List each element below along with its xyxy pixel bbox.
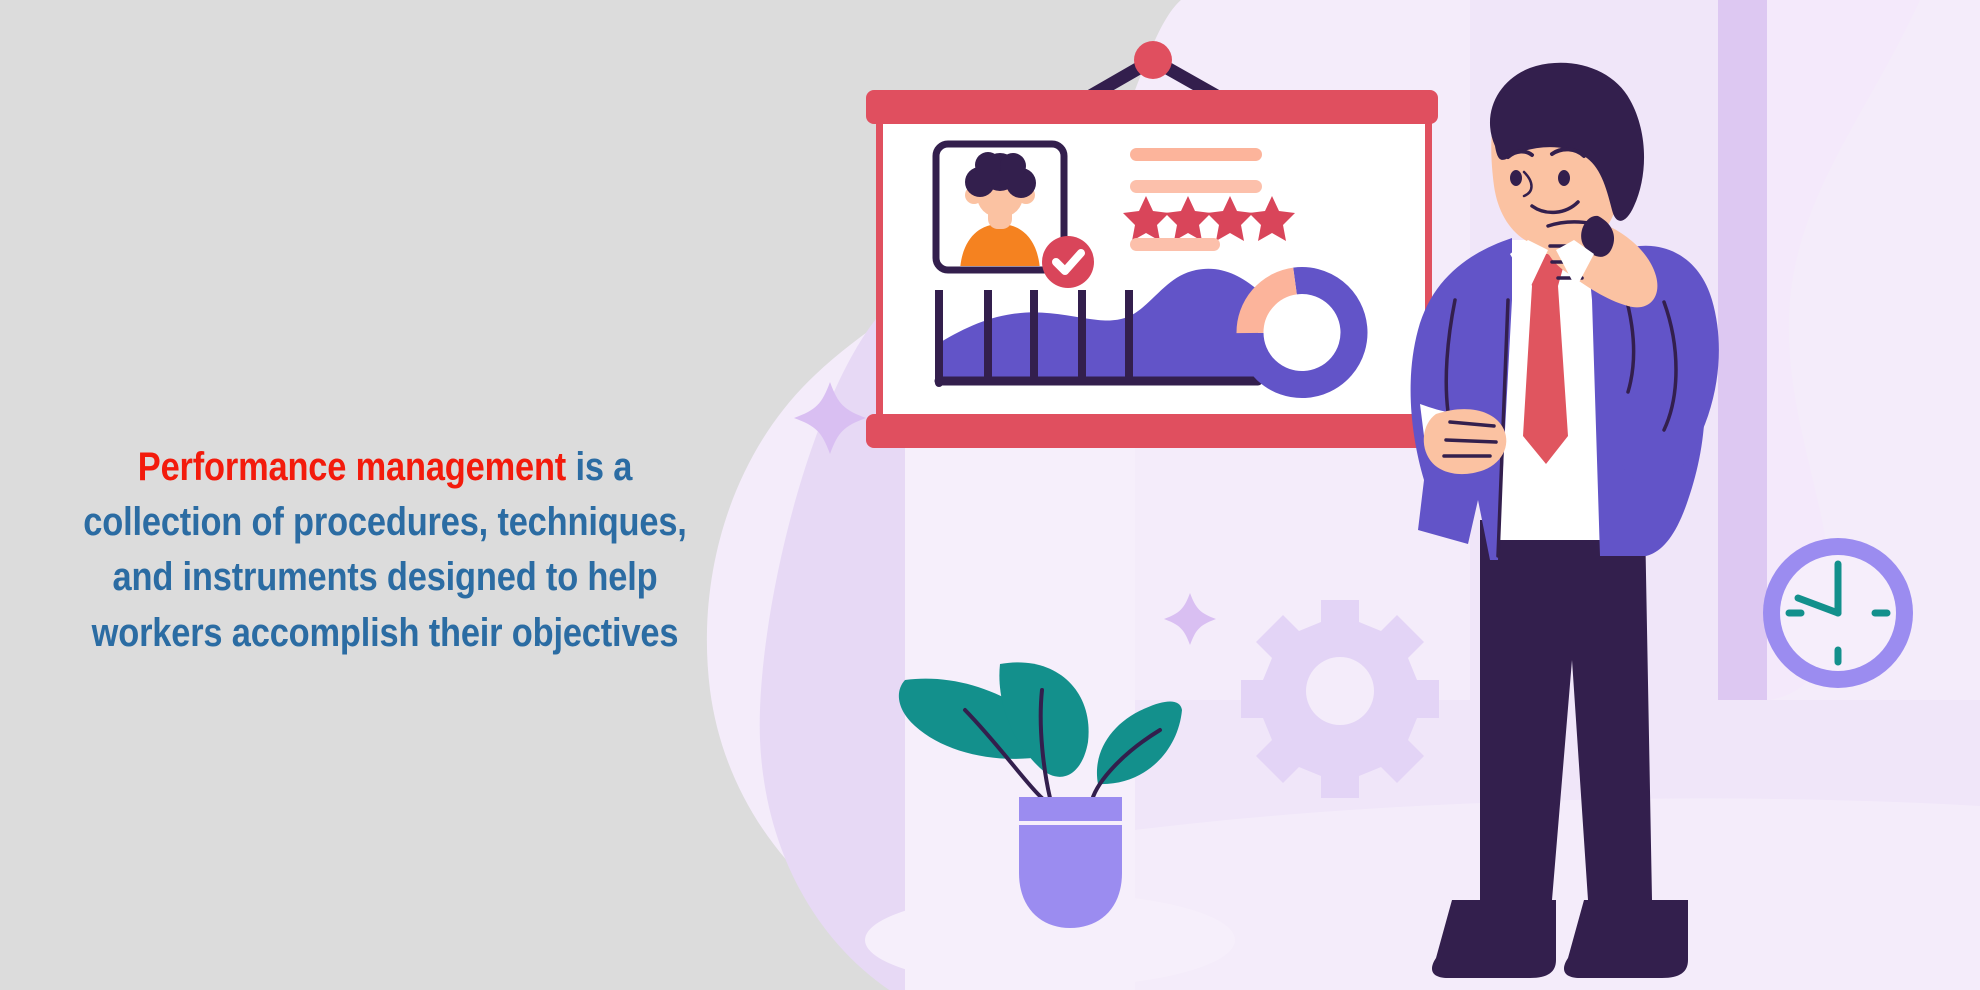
plant-pot-rim [1019,797,1122,821]
board-text-line-1 [1130,148,1262,161]
illustration-canvas: Performance management is a collection o… [0,0,1980,990]
wall-clock [1763,538,1913,688]
gear-icon-hole [1306,657,1374,725]
board-hanger-knob [1134,41,1172,79]
employee-avatar [940,148,1060,270]
eye-right [1558,170,1570,186]
board-text-line-3 [1130,238,1220,251]
board-left-edge [876,120,883,418]
board-bottom-bar [866,414,1438,448]
shoe-left [1432,900,1556,978]
caption-highlight: Performance management [138,445,566,489]
shoe-right [1564,900,1688,978]
eye-left [1510,170,1522,186]
board-text-line-2 [1130,180,1262,193]
board-top-bar [866,90,1438,124]
background-stripe-right [1715,0,1767,700]
plant-pot-body [1019,825,1122,928]
page-caption: Performance management is a collection o… [54,440,716,661]
